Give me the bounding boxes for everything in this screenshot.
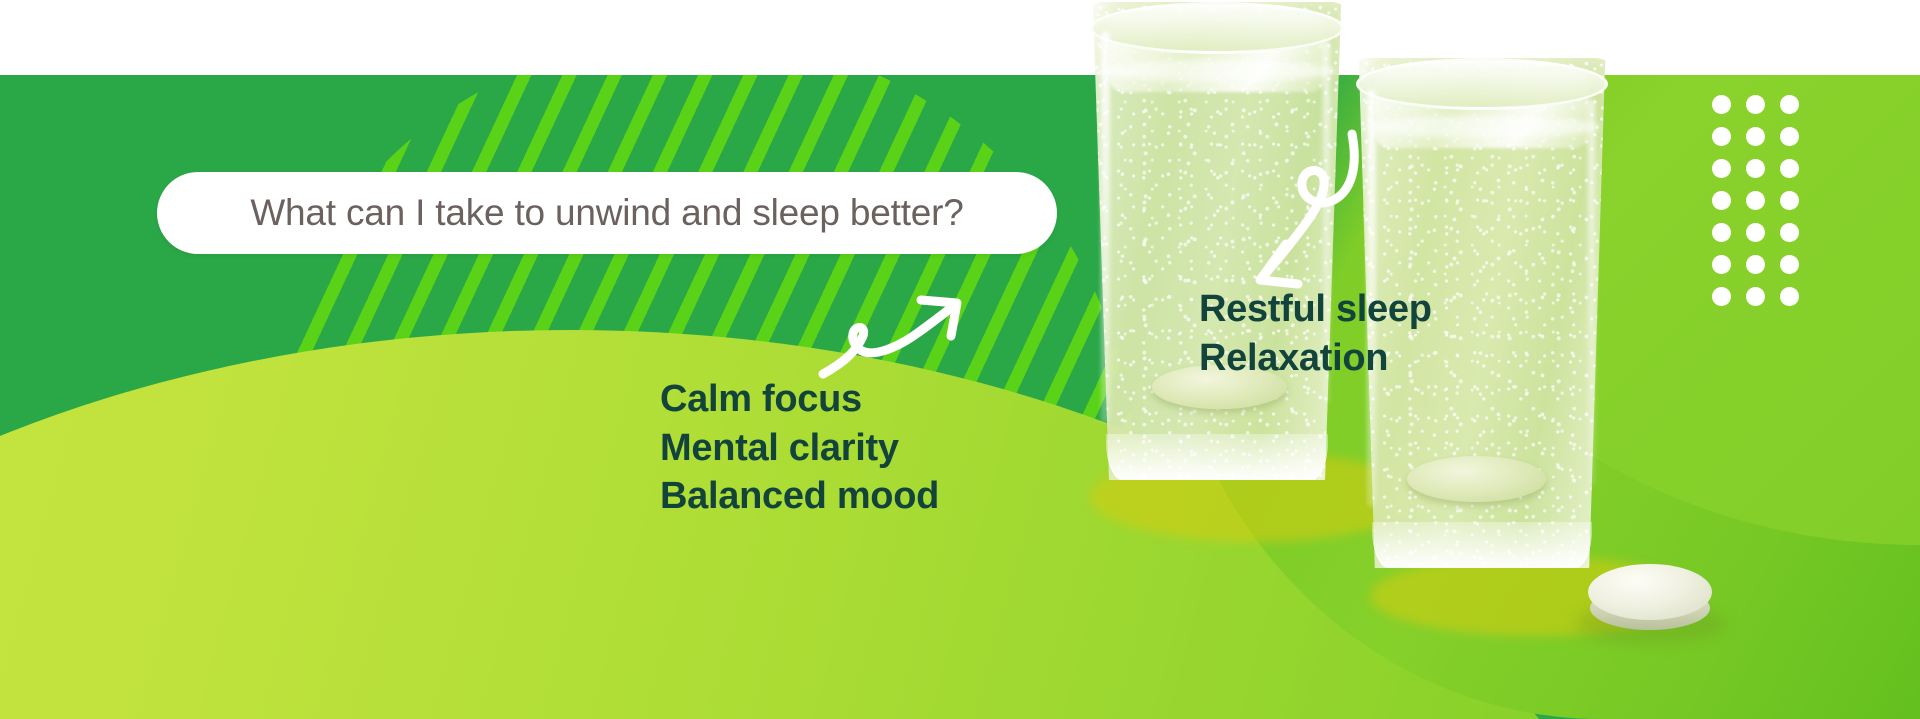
grid-dot bbox=[1746, 287, 1765, 306]
benefit-item: Calm focus bbox=[660, 375, 939, 424]
headline-speech-bubble: What can I take to unwind and sleep bett… bbox=[157, 172, 1057, 254]
benefit-item: Relaxation bbox=[1199, 334, 1432, 383]
promotional-banner: What can I take to unwind and sleep bett… bbox=[0, 0, 1920, 719]
grid-dot bbox=[1780, 127, 1799, 146]
grid-dot bbox=[1712, 95, 1731, 114]
drink-surface-foam bbox=[1098, 60, 1336, 82]
benefit-item: Mental clarity bbox=[660, 424, 939, 473]
grid-dot bbox=[1746, 127, 1765, 146]
glass-highlight-left bbox=[1101, 31, 1110, 423]
glass-base bbox=[1372, 522, 1592, 568]
grid-dot bbox=[1746, 191, 1765, 210]
grid-dot bbox=[1746, 159, 1765, 178]
glass-rim bbox=[1090, 2, 1344, 54]
grid-dot bbox=[1712, 255, 1731, 274]
benefit-item: Balanced mood bbox=[660, 472, 939, 521]
grid-dot bbox=[1712, 159, 1731, 178]
grid-dot bbox=[1712, 287, 1731, 306]
glass-base bbox=[1106, 434, 1327, 480]
tablet-top bbox=[1588, 564, 1712, 620]
grid-dot bbox=[1712, 223, 1731, 242]
grid-dot bbox=[1780, 287, 1799, 306]
headline-text: What can I take to unwind and sleep bett… bbox=[250, 192, 963, 234]
grid-dot bbox=[1746, 255, 1765, 274]
grid-dot bbox=[1780, 159, 1799, 178]
grid-dot bbox=[1780, 255, 1799, 274]
glass-highlight-right bbox=[1588, 99, 1595, 487]
drink-surface-foam bbox=[1364, 116, 1600, 138]
grid-dot bbox=[1712, 127, 1731, 146]
effervescent-tablet bbox=[1588, 564, 1712, 636]
glass-of-effervescent-drink-back bbox=[1082, 2, 1352, 480]
grid-dot bbox=[1780, 95, 1799, 114]
grid-dot bbox=[1780, 223, 1799, 242]
benefits-list-right: Restful sleep Relaxation bbox=[1199, 285, 1432, 382]
dot-grid-decoration bbox=[1712, 95, 1814, 319]
grid-dot bbox=[1746, 95, 1765, 114]
benefit-item: Restful sleep bbox=[1199, 285, 1432, 334]
glass-rim bbox=[1356, 58, 1608, 110]
effervescent-tablet-in-glass bbox=[1407, 456, 1546, 502]
grid-dot bbox=[1780, 191, 1799, 210]
grid-dot bbox=[1746, 223, 1765, 242]
benefits-list-left: Calm focus Mental clarity Balanced mood bbox=[660, 375, 939, 521]
grid-dot bbox=[1712, 191, 1731, 210]
